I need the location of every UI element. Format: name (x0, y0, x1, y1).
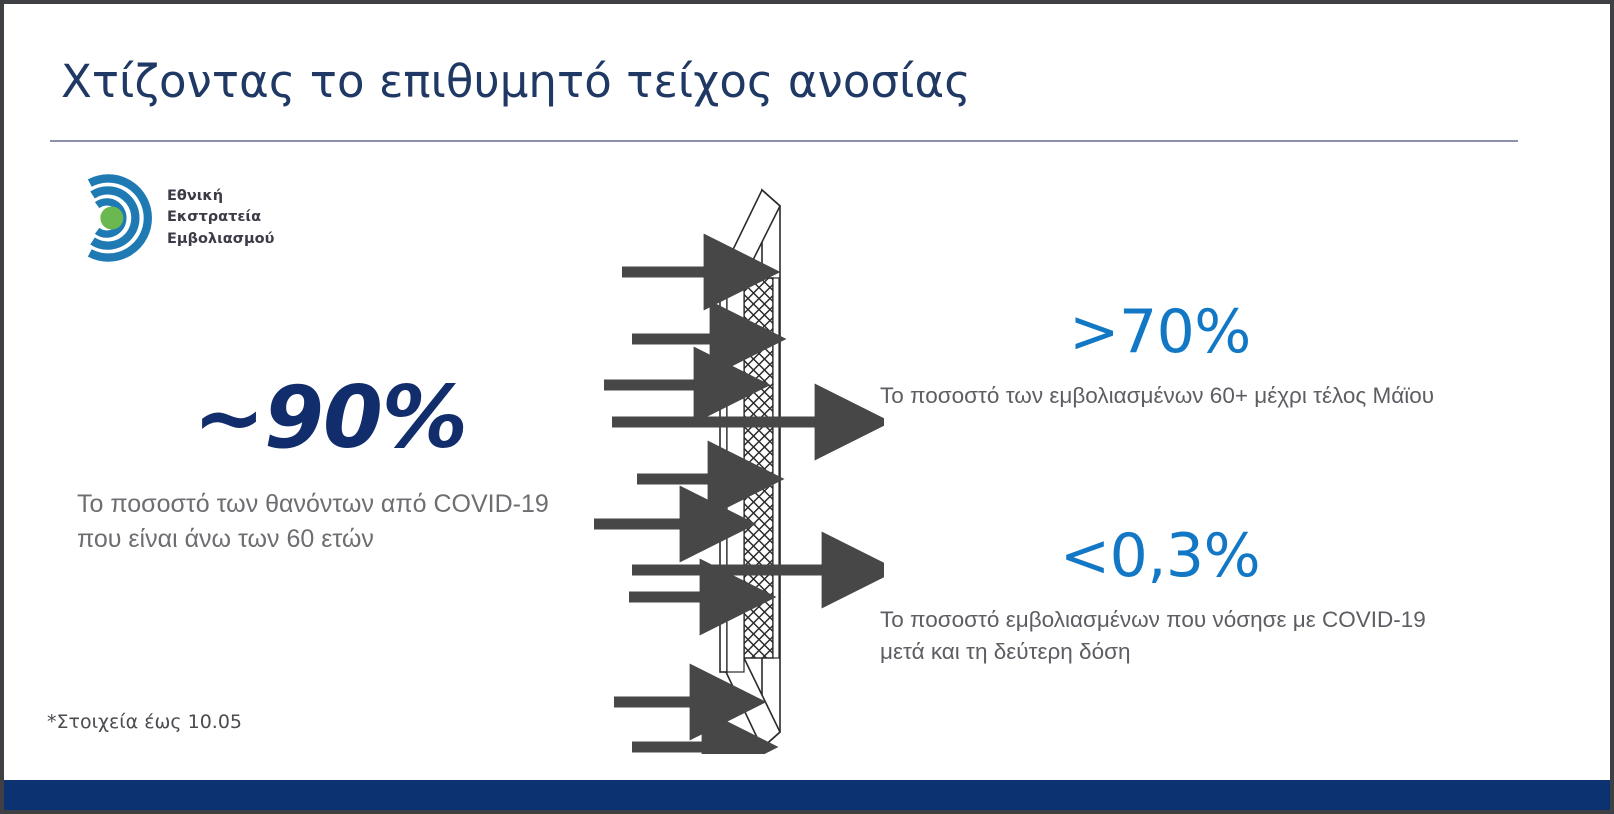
logo-line-3: Εμβολιασμού (167, 229, 274, 250)
passing-arrow-group (612, 422, 826, 570)
logo-wordmark: Εθνική Εκστρατεία Εμβολιασμού (167, 186, 274, 249)
stat-right-bottom: <0,3% Το ποσοστό εμβολιασμένων που νόσησ… (880, 525, 1440, 668)
stat-right-bottom-value: <0,3% (880, 525, 1440, 588)
logo-line-1: Εθνική (167, 186, 274, 207)
immunity-wall-filter-diagram (594, 172, 884, 754)
stat-right-bottom-caption: Το ποσοστό εμβολιασμένων που νόσησε με C… (880, 604, 1440, 668)
campaign-logo: Εθνική Εκστρατεία Εμβολιασμού (64, 172, 274, 264)
concentric-arcs-icon (64, 172, 156, 264)
stat-left-caption: Το ποσοστό των θανόντων από COVID-19 που… (70, 487, 590, 558)
incoming-arrow-group (594, 272, 714, 747)
footer-bar (4, 780, 1610, 810)
title-divider (50, 140, 1518, 142)
stat-right-top-value: >70% (880, 301, 1440, 364)
stat-left-value: ~90% (70, 372, 590, 465)
stat-left: ~90% Το ποσοστό των θανόντων από COVID-1… (70, 372, 590, 558)
stat-right-top-caption: Το ποσοστό των εμβολιασμένων 60+ μέχρι τ… (880, 380, 1440, 412)
page-title: Χτίζοντας το επιθυμητό τείχος ανοσίας (61, 56, 971, 108)
footnote-data-date: *Στοιχεία έως 10.05 (47, 711, 242, 733)
logo-line-2: Εκστρατεία (167, 207, 274, 228)
slide-canvas: Χτίζοντας το επιθυμητό τείχος ανοσίας Εθ… (0, 0, 1614, 814)
stat-right-top: >70% Το ποσοστό των εμβολιασμένων 60+ μέ… (880, 301, 1440, 412)
